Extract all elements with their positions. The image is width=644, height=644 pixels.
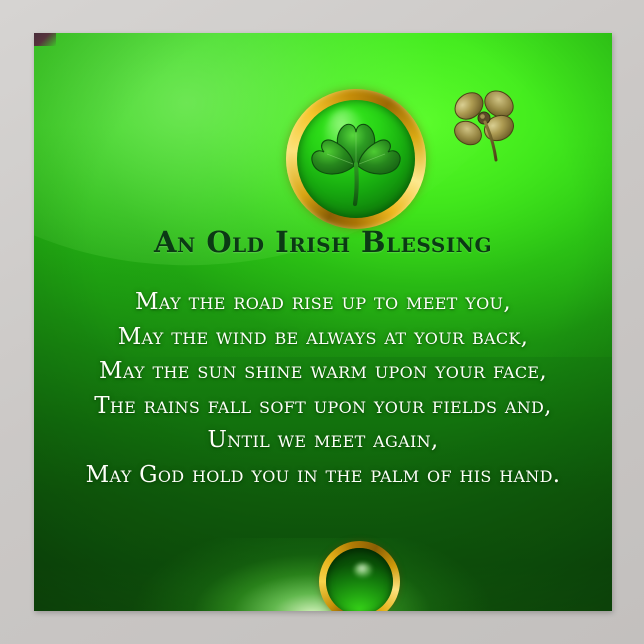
page-title: An Old Irish Blessing [34, 226, 612, 258]
orb-specular-highlight [354, 563, 371, 578]
poem-line: May God hold you in the palm of his hand… [34, 458, 612, 493]
shamrock-medallion [286, 89, 426, 229]
blessing-poem: May the road rise up to meet you, May th… [34, 285, 612, 492]
poem-line: May the wind be always at your back, [34, 320, 612, 355]
shamrock-icon [297, 100, 415, 218]
medallion-inner-disc [297, 100, 415, 218]
poem-line: May the sun shine warm upon your face, [34, 354, 612, 389]
poster: An Old Irish Blessing May the road rise … [34, 33, 612, 611]
poem-line: May the road rise up to meet you, [34, 285, 612, 320]
corner-artifact [34, 33, 56, 46]
gold-ringed-green-orb [319, 541, 400, 611]
poem-line: Until we meet again, [34, 423, 612, 458]
page-canvas: An Old Irish Blessing May the road rise … [0, 0, 644, 644]
poem-line: The rains fall soft upon your fields and… [34, 389, 612, 424]
orb-glass-sphere [326, 548, 393, 611]
gold-four-leaf-clover-icon [446, 83, 524, 165]
